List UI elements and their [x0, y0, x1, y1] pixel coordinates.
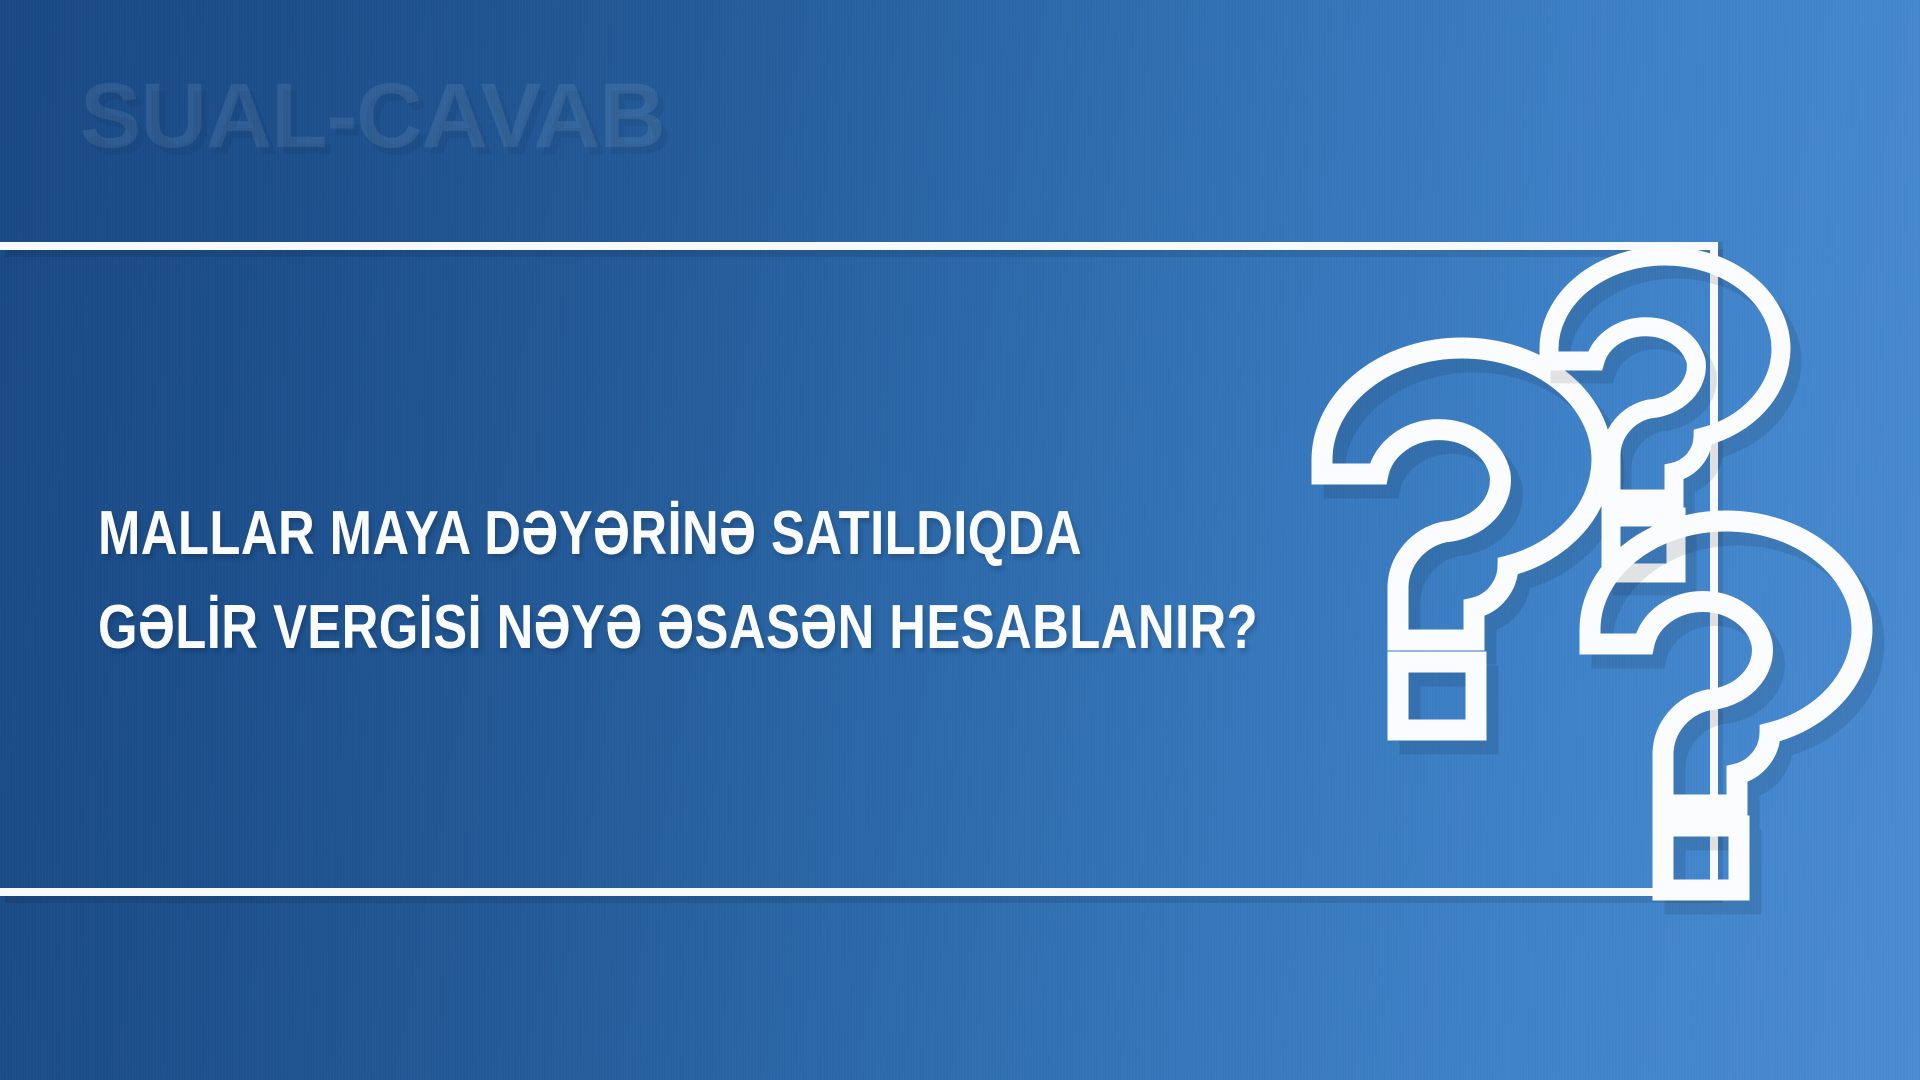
question-mark-medium-bottom-icon: [1580, 485, 1900, 890]
watermark-title: SUAL-CAVAB: [80, 70, 665, 162]
page-title: MALLAR MAYA DƏYƏRİNƏ SATILDIQDA GƏLİR VE…: [98, 487, 1066, 675]
headline-line-1: MALLAR MAYA DƏYƏRİNƏ SATILDIQDA: [98, 487, 1066, 581]
sual-cavab-banner: SUAL-CAVAB MALLAR MAYA DƏYƏRİNƏ SATILDIQ…: [0, 0, 1920, 1080]
question-marks-group: [1330, 230, 1920, 910]
headline-line-2: GƏLİR VERGİSİ NƏYƏ ƏSASƏN HESABLANIR?: [98, 581, 1066, 675]
